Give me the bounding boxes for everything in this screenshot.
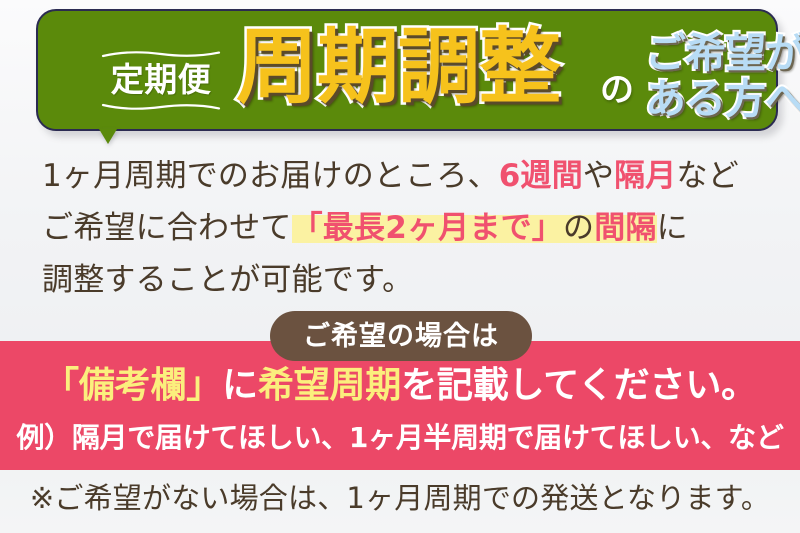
- header-subtitle-line-2: ある方へ: [645, 79, 800, 121]
- footnote: ※ご希望がない場合は、1ヶ月周期での発送となります。: [0, 484, 800, 513]
- header-subtitle-line-1: ご希望が: [645, 33, 800, 75]
- request-case-pill: ご希望の場合は: [270, 311, 532, 361]
- body-line-1-text-c: など: [677, 158, 739, 194]
- speech-bubble-tail-icon: [99, 129, 117, 144]
- body-line-2-highlight-plain: の: [563, 210, 594, 246]
- pink-subtext: 例）隔月で届けてほしい、1ヶ月半周期で届けてほしい、など: [0, 424, 800, 452]
- body-line-2-highlight: 「最長2ヶ月まで」の間隔: [292, 210, 657, 246]
- body-line-2-highlight-accent-b: 間隔: [594, 210, 656, 246]
- body-line-1: 1ヶ月周期でのお届けのところ、6週間や隔月など: [42, 150, 772, 202]
- pink-headline-emphasis-1: 「備考欄」: [43, 365, 222, 406]
- header-subtitle: ご希望が ある方へ: [645, 33, 800, 121]
- pink-headline-mid: に: [222, 365, 258, 406]
- pink-headline-emphasis-2: 希望周期: [258, 365, 401, 406]
- request-case-pill-label: ご希望の場合は: [303, 323, 499, 350]
- body-line-1-accent-b: 隔月: [614, 158, 676, 194]
- body-line-1-accent-a: 6週間: [499, 158, 583, 194]
- header-title: 周期調整: [236, 27, 560, 109]
- body-line-2-text-a: ご希望に合わせて: [42, 210, 292, 246]
- wave-rule-top-icon: [102, 51, 220, 58]
- body-copy: 1ヶ月周期でのお届けのところ、6週間や隔月など ご希望に合わせて「最長2ヶ月まで…: [42, 150, 772, 306]
- body-line-2-text-b: に: [657, 210, 688, 246]
- subscription-badge: 定期便: [100, 38, 222, 123]
- header-title-particle: の: [600, 73, 634, 107]
- subscription-badge-label: 定期便: [111, 61, 212, 99]
- body-line-1-text-b: や: [583, 158, 614, 194]
- body-line-3: 調整することが可能です。: [42, 254, 772, 306]
- promo-banner: 定期便 周期調整 の ご希望が ある方へ 1ヶ月周期でのお届けのところ、6週間や…: [0, 0, 800, 533]
- wave-rule-bottom-icon: [102, 103, 220, 110]
- body-line-1-text-a: 1ヶ月周期でのお届けのところ、: [42, 158, 499, 194]
- body-line-2: ご希望に合わせて「最長2ヶ月まで」の間隔に: [42, 202, 772, 254]
- pink-headline: 「備考欄」に希望周期を記載してください。: [0, 368, 800, 404]
- header-bubble: 定期便 周期調整 の ご希望が ある方へ: [36, 9, 778, 131]
- body-line-2-highlight-accent-a: 「最長2ヶ月まで」: [292, 210, 563, 246]
- pink-headline-rest: を記載してください。: [401, 365, 757, 406]
